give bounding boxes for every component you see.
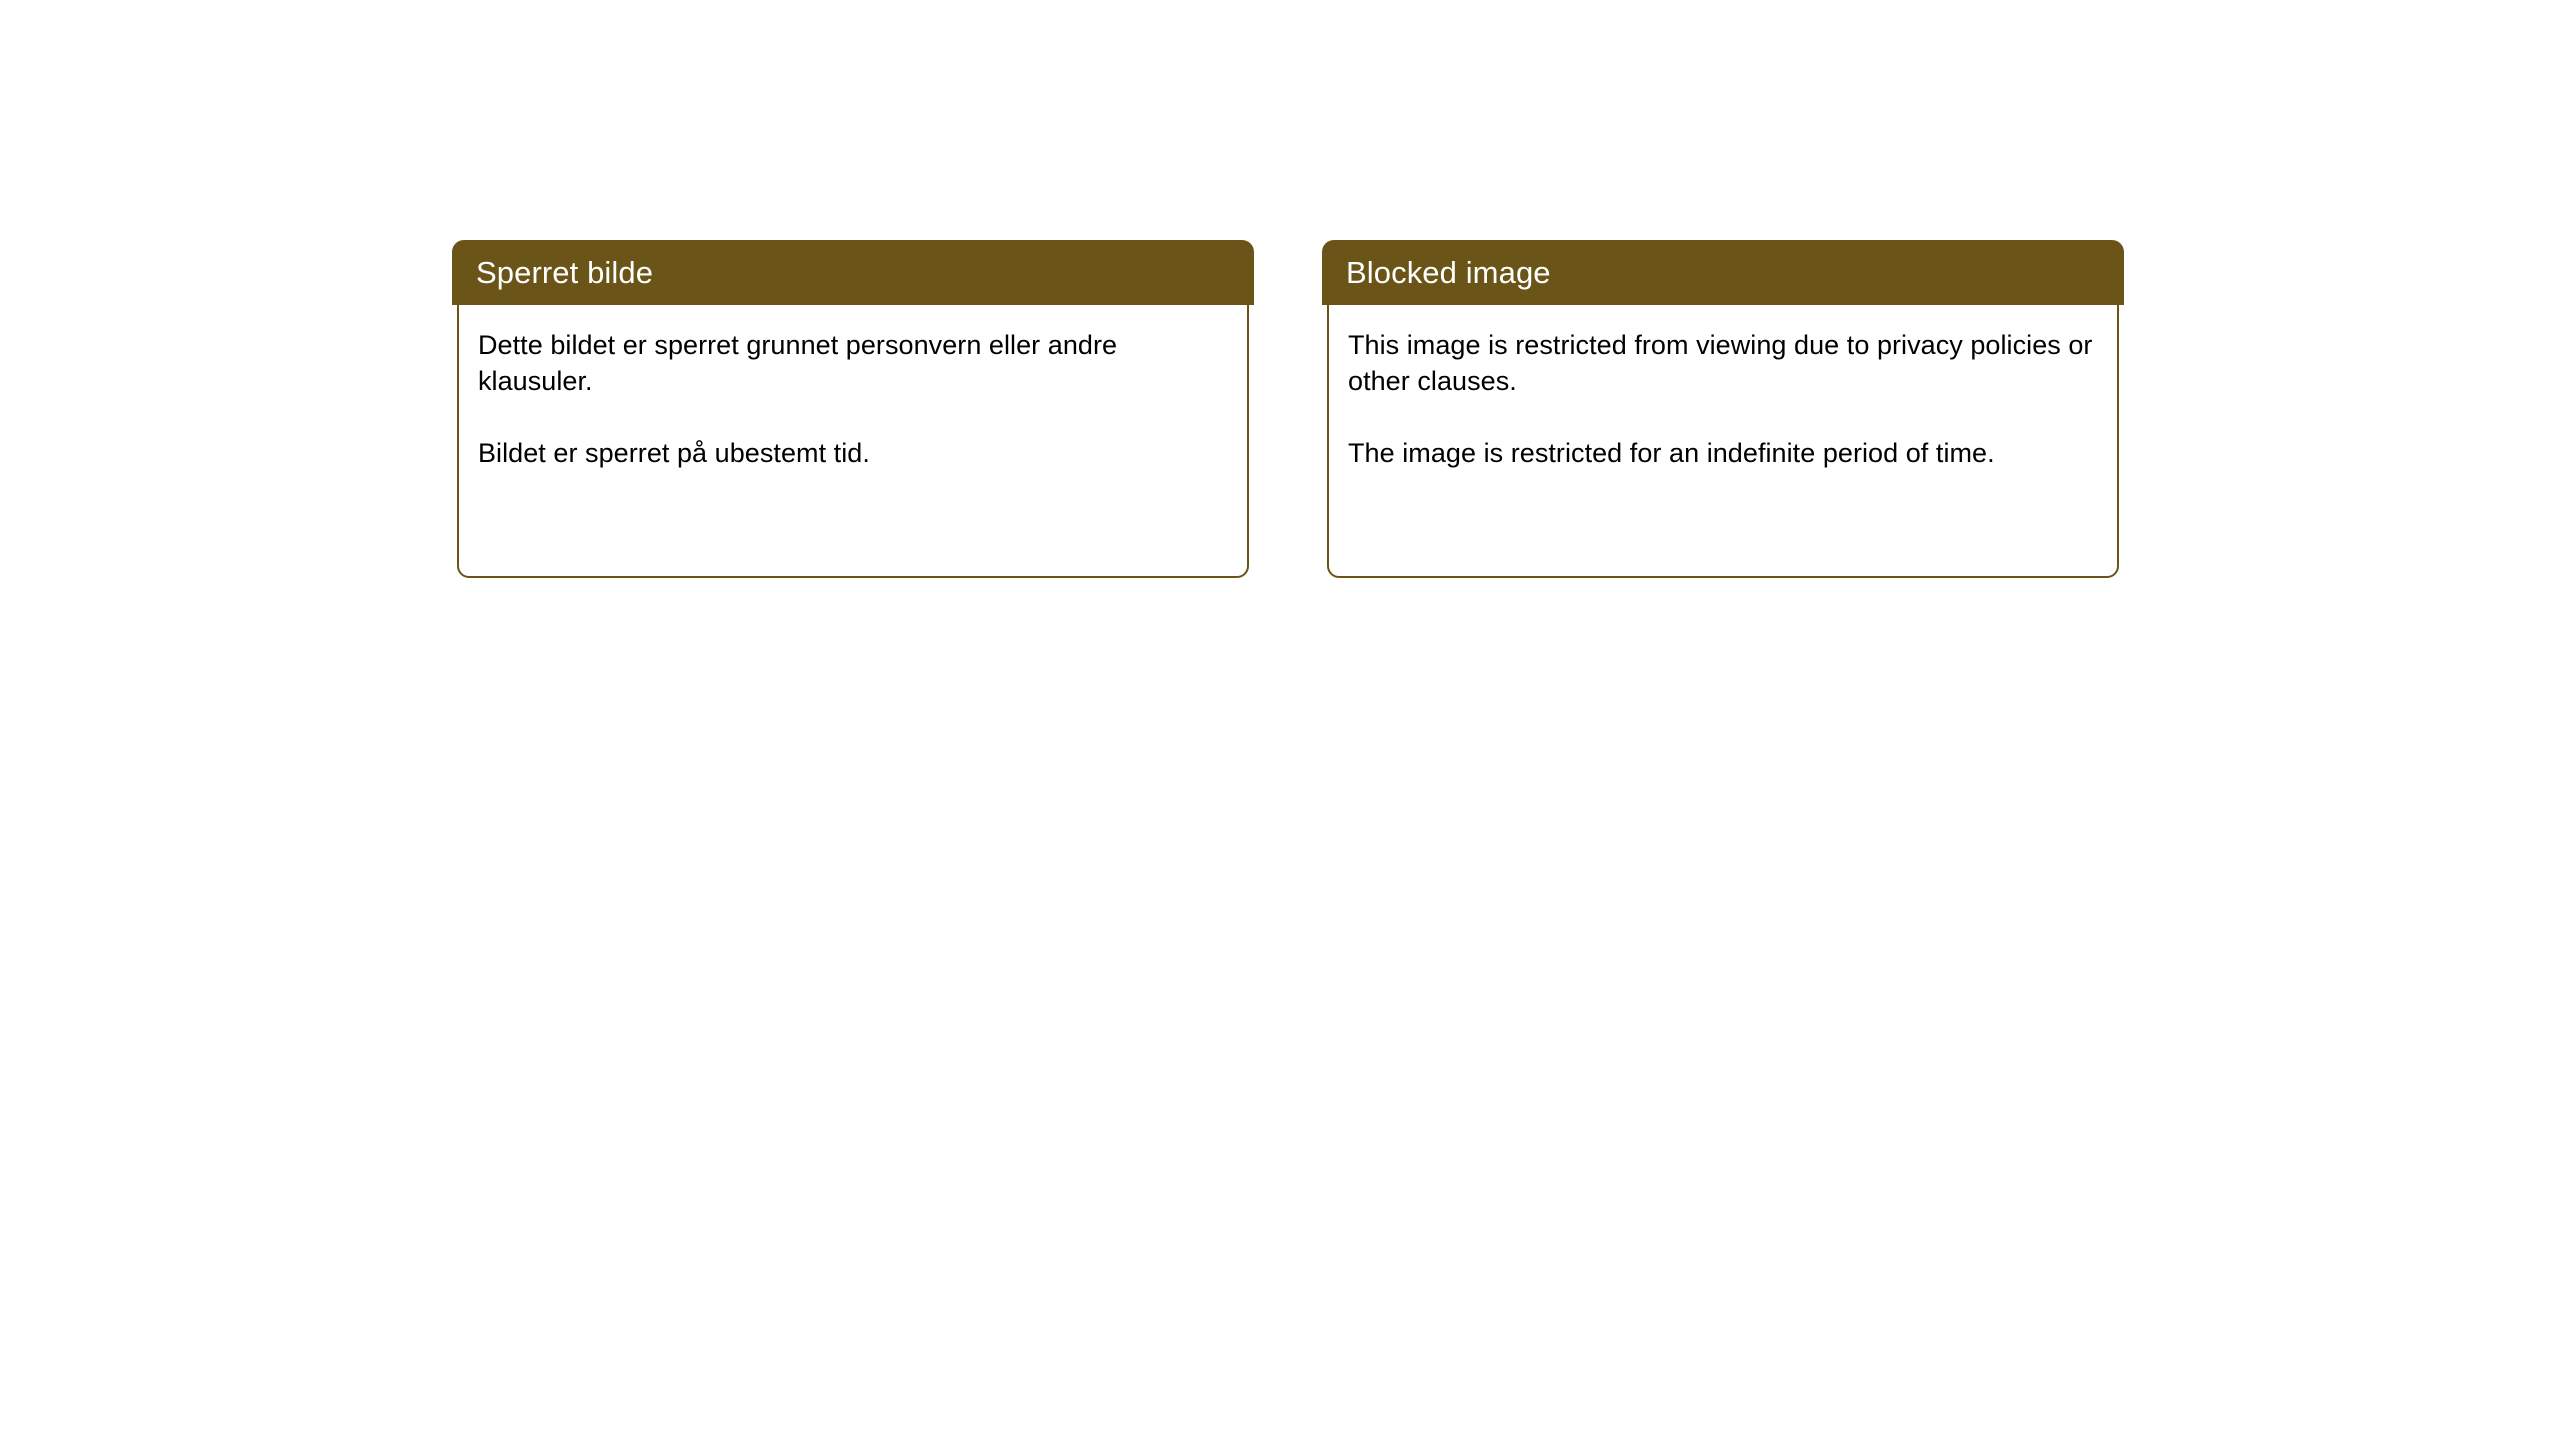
notice-paragraph-secondary-norwegian: Bildet er sperret på ubestemt tid. — [478, 435, 1227, 471]
notice-body-norwegian: Dette bildet er sperret grunnet personve… — [457, 305, 1249, 578]
paragraph-spacer — [478, 399, 1227, 435]
notice-paragraph-secondary-english: The image is restricted for an indefinit… — [1348, 435, 2097, 471]
notice-header-norwegian: Sperret bilde — [452, 240, 1254, 305]
notice-title-english: Blocked image — [1346, 257, 1551, 288]
notice-body-english: This image is restricted from viewing du… — [1327, 305, 2119, 578]
notice-header-english: Blocked image — [1322, 240, 2124, 305]
notice-title-norwegian: Sperret bilde — [476, 257, 653, 288]
paragraph-spacer — [1348, 399, 2097, 435]
blocked-image-notice-english: Blocked image This image is restricted f… — [1322, 240, 2124, 578]
blocked-image-notice-norwegian: Sperret bilde Dette bildet er sperret gr… — [452, 240, 1254, 578]
notice-paragraph-primary-english: This image is restricted from viewing du… — [1348, 327, 2097, 399]
notice-paragraph-primary-norwegian: Dette bildet er sperret grunnet personve… — [478, 327, 1227, 399]
page-root: Sperret bilde Dette bildet er sperret gr… — [0, 0, 2560, 1440]
